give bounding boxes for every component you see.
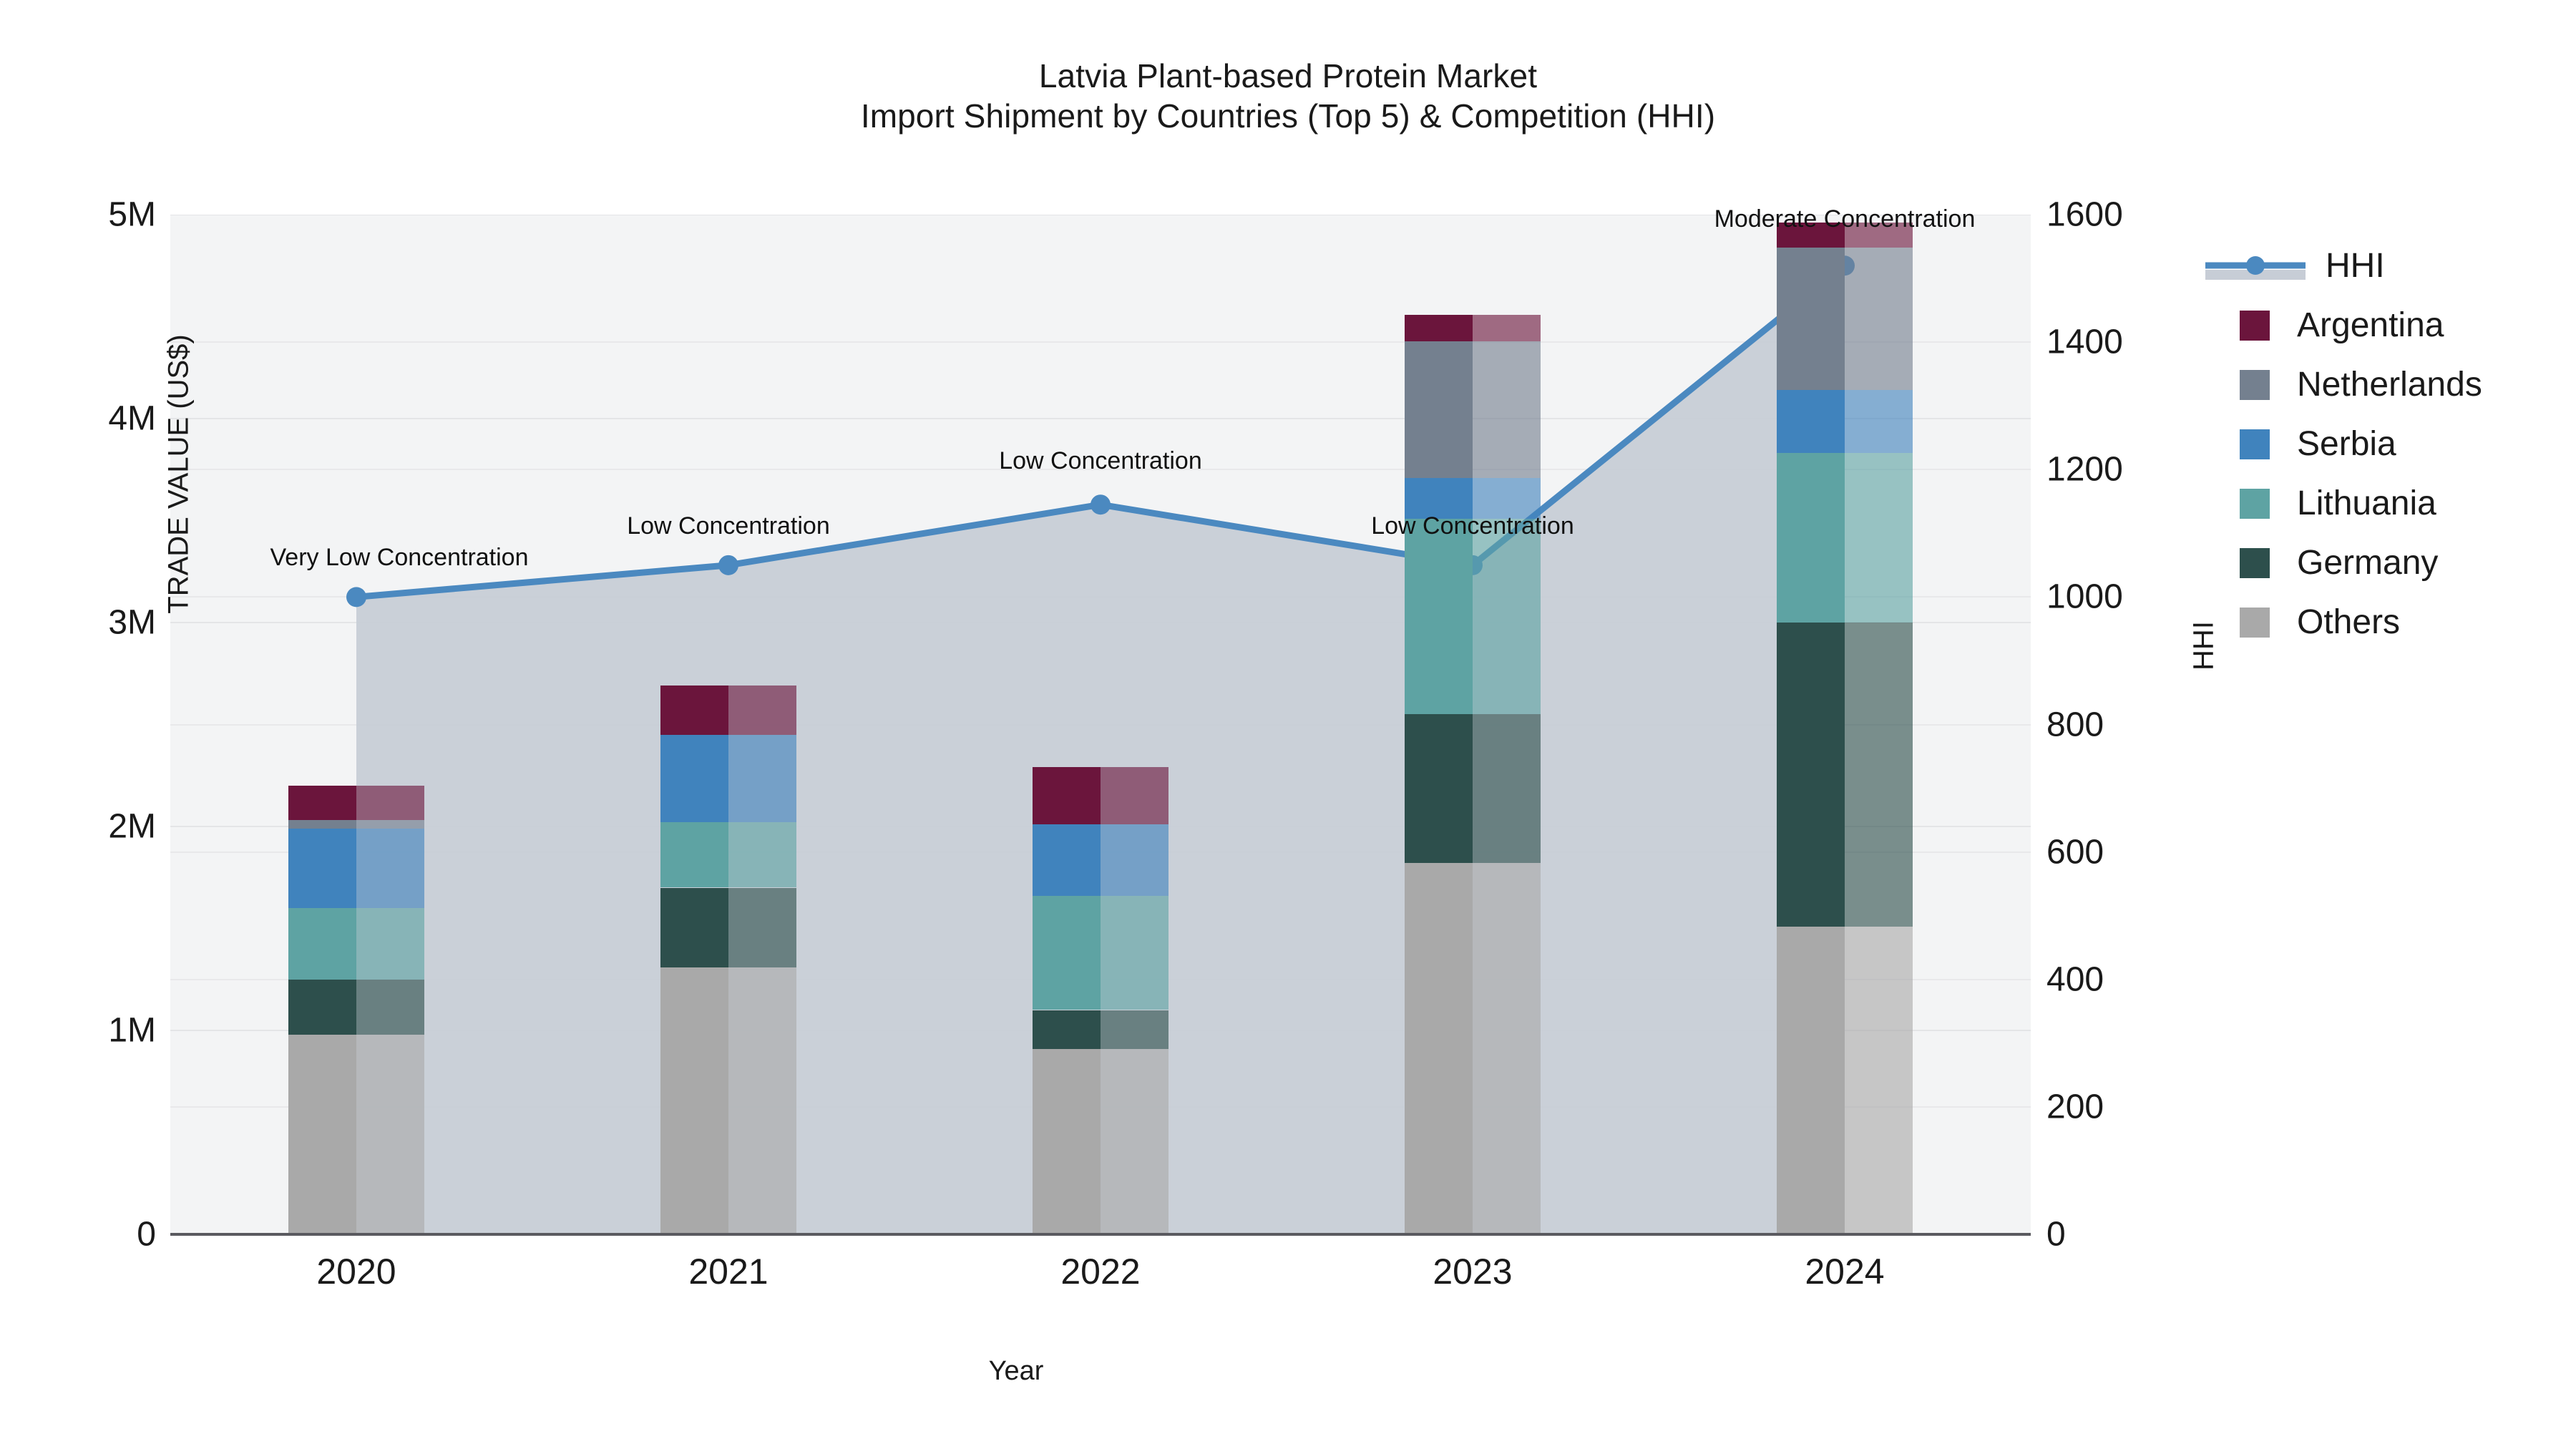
legend-item[interactable]: Serbia: [2197, 414, 2569, 474]
x-axis-tick-label: 2023: [1365, 1251, 1580, 1292]
bar-segment[interactable]: [288, 786, 356, 820]
legend-item[interactable]: Argentina: [2197, 296, 2569, 355]
y-axis-right-tick-label: 1400: [2046, 323, 2197, 362]
legend-swatch: [2240, 608, 2270, 638]
y-axis-left-tick-label: 3M: [20, 603, 156, 643]
bar-segment[interactable]: [1405, 519, 1473, 715]
bar-segment[interactable]: [1777, 927, 1845, 1234]
bar-segment[interactable]: [1033, 1049, 1101, 1234]
y-axis-right-tick-label: 1000: [2046, 577, 2197, 617]
bar-segment[interactable]: [728, 735, 796, 823]
legend-item-label: Lithuania: [2297, 487, 2436, 521]
bar-segment[interactable]: [288, 908, 356, 980]
x-axis-tick-label: 2022: [993, 1251, 1208, 1292]
y-axis-right-tick-label: 1600: [2046, 195, 2197, 235]
hhi-annotation: Low Concentration: [1371, 512, 1574, 540]
bar-segment[interactable]: [1845, 623, 1913, 927]
y-axis-left-title: TRADE VALUE (US$): [163, 288, 195, 660]
hhi-annotation: Very Low Concentration: [270, 544, 529, 572]
legend-item-label: Argentina: [2297, 308, 2444, 343]
legend-swatch: [2240, 429, 2270, 459]
bar-segment[interactable]: [1033, 824, 1101, 896]
bar-segment[interactable]: [1405, 341, 1473, 478]
legend-item[interactable]: Lithuania: [2197, 474, 2569, 533]
bar-segment[interactable]: [1845, 248, 1913, 391]
bar-segment[interactable]: [1101, 824, 1169, 896]
bar-segment[interactable]: [1405, 315, 1473, 341]
bar-segment[interactable]: [288, 1035, 356, 1234]
bar-segment[interactable]: [660, 686, 728, 734]
bar-segment[interactable]: [1101, 896, 1169, 1010]
plot-area: [170, 215, 2031, 1234]
legend-item-label: Netherlands: [2297, 368, 2482, 402]
legend-swatch: [2240, 311, 2270, 341]
legend-item-label: Serbia: [2297, 427, 2396, 462]
x-axis-tick-label: 2021: [621, 1251, 836, 1292]
bar-segment[interactable]: [1101, 767, 1169, 824]
bar-segment[interactable]: [1845, 927, 1913, 1234]
bar-segment[interactable]: [356, 820, 424, 828]
bar-segment[interactable]: [1405, 863, 1473, 1234]
bar-segment[interactable]: [288, 980, 356, 1035]
legend-item[interactable]: Germany: [2197, 533, 2569, 592]
legend-item[interactable]: Others: [2197, 592, 2569, 652]
hhi-point[interactable]: [718, 555, 738, 575]
legend-item[interactable]: Netherlands: [2197, 355, 2569, 414]
title-main: Latvia Plant-based Protein Market: [0, 56, 2576, 96]
bar-segment[interactable]: [1473, 863, 1541, 1234]
bar-segment[interactable]: [1033, 896, 1101, 1010]
y-axis-right-tick-label: 800: [2046, 705, 2197, 744]
bar-segment[interactable]: [728, 967, 796, 1234]
bar-segment[interactable]: [1101, 1010, 1169, 1049]
bar-segment[interactable]: [356, 908, 424, 980]
bar-segment[interactable]: [356, 786, 424, 820]
y-axis-left-tick-label: 0: [20, 1215, 156, 1254]
bar-segment[interactable]: [1101, 1049, 1169, 1234]
legend-item-label: HHI: [2326, 249, 2385, 283]
hhi-annotation: Moderate Concentration: [1714, 205, 1976, 233]
x-axis-title: Year: [0, 1356, 2032, 1387]
bar-segment[interactable]: [728, 822, 796, 887]
legend-item-label: Germany: [2297, 546, 2438, 580]
y-axis-right-tick-label: 200: [2046, 1087, 2197, 1126]
bar-segment[interactable]: [1777, 623, 1845, 927]
bar-segment[interactable]: [356, 1035, 424, 1234]
legend: HHIArgentinaNetherlandsSerbiaLithuaniaGe…: [2197, 236, 2569, 652]
legend-swatch: [2240, 548, 2270, 578]
bar-segment[interactable]: [356, 829, 424, 908]
bar-segment[interactable]: [1845, 453, 1913, 623]
x-axis-tick-label: 2024: [1737, 1251, 1952, 1292]
hhi-annotation: Low Concentration: [627, 512, 830, 540]
bar-segment[interactable]: [1405, 714, 1473, 863]
hhi-line-icon: [2205, 251, 2306, 281]
y-axis-left-tick-label: 5M: [20, 195, 156, 235]
legend-item-label: Others: [2297, 605, 2400, 640]
bar-segment[interactable]: [288, 829, 356, 908]
x-axis-line: [170, 1233, 2031, 1236]
bar-segment[interactable]: [1777, 248, 1845, 391]
chart-title: Latvia Plant-based Protein Market Import…: [0, 56, 2576, 136]
bar-segment[interactable]: [1845, 390, 1913, 453]
bar-segment[interactable]: [1473, 714, 1541, 863]
plot-inner: [170, 215, 2031, 1234]
y-axis-right-tick-label: 0: [2046, 1215, 2197, 1254]
x-axis-tick-label: 2020: [249, 1251, 464, 1292]
hhi-point[interactable]: [346, 587, 366, 607]
bar-segment[interactable]: [1473, 519, 1541, 715]
bar-segment[interactable]: [660, 967, 728, 1234]
bar-segment[interactable]: [728, 686, 796, 734]
bar-segment[interactable]: [660, 822, 728, 887]
bar-segment[interactable]: [1033, 1010, 1101, 1049]
bar-segment[interactable]: [1777, 390, 1845, 453]
bar-segment[interactable]: [288, 820, 356, 828]
legend-swatch: [2240, 489, 2270, 519]
legend-swatch: [2240, 370, 2270, 400]
bar-segment[interactable]: [356, 980, 424, 1035]
hhi-point[interactable]: [1091, 494, 1111, 514]
y-axis-left-tick-label: 1M: [20, 1011, 156, 1050]
y-axis-right-tick-label: 400: [2046, 960, 2197, 999]
legend-item[interactable]: HHI: [2197, 236, 2569, 296]
bar-segment[interactable]: [1033, 767, 1101, 824]
bar-segment[interactable]: [1473, 315, 1541, 341]
y-axis-right-tick-label: 1200: [2046, 450, 2197, 489]
y-axis-left-tick-label: 4M: [20, 399, 156, 439]
bar-segment[interactable]: [728, 888, 796, 967]
y-axis-right-tick-label: 600: [2046, 832, 2197, 872]
y-axis-left-tick-label: 2M: [20, 807, 156, 847]
hhi-annotation: Low Concentration: [999, 447, 1202, 475]
bar-segment[interactable]: [1473, 341, 1541, 478]
title-sub: Import Shipment by Countries (Top 5) & C…: [0, 96, 2576, 136]
bar-segment[interactable]: [1777, 453, 1845, 623]
bar-segment[interactable]: [660, 735, 728, 823]
bar-segment[interactable]: [660, 888, 728, 967]
chart-canvas: Latvia Plant-based Protein Market Import…: [0, 0, 2576, 1449]
